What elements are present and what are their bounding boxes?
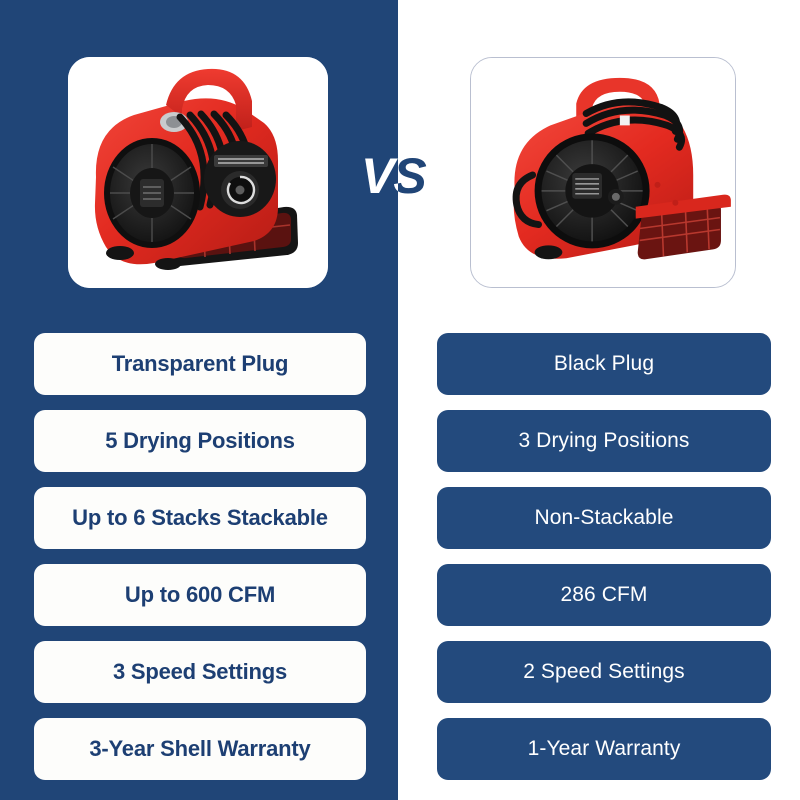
right-feature-pill-6[interactable]: 1-Year Warranty <box>437 718 771 780</box>
right-product-feature-list: Black Plug 3 Drying Positions Non-Stacka… <box>437 333 771 780</box>
left-feature-pill-4[interactable]: Up to 600 CFM <box>34 564 366 626</box>
left-product-illustration <box>68 57 328 288</box>
right-feature-pill-5[interactable]: 2 Speed Settings <box>437 641 771 703</box>
left-product-image-card[interactable] <box>68 57 328 288</box>
left-feature-pill-3[interactable]: Up to 6 Stacks Stackable <box>34 487 366 549</box>
left-feature-pill-1[interactable]: Transparent Plug <box>34 333 366 395</box>
left-feature-pill-2[interactable]: 5 Drying Positions <box>34 410 366 472</box>
right-feature-pill-4[interactable]: 286 CFM <box>437 564 771 626</box>
left-feature-pill-6[interactable]: 3-Year Shell Warranty <box>34 718 366 780</box>
right-product-illustration <box>471 58 735 287</box>
comparison-infographic: VS VS Transparent Plug 5 Drying Position… <box>0 0 800 800</box>
left-product-feature-list: Transparent Plug 5 Drying Positions Up t… <box>34 333 366 780</box>
right-feature-pill-2[interactable]: 3 Drying Positions <box>437 410 771 472</box>
left-feature-pill-5[interactable]: 3 Speed Settings <box>34 641 366 703</box>
right-feature-pill-3[interactable]: Non-Stackable <box>437 487 771 549</box>
right-feature-pill-1[interactable]: Black Plug <box>437 333 771 395</box>
right-product-image-card[interactable] <box>470 57 736 288</box>
